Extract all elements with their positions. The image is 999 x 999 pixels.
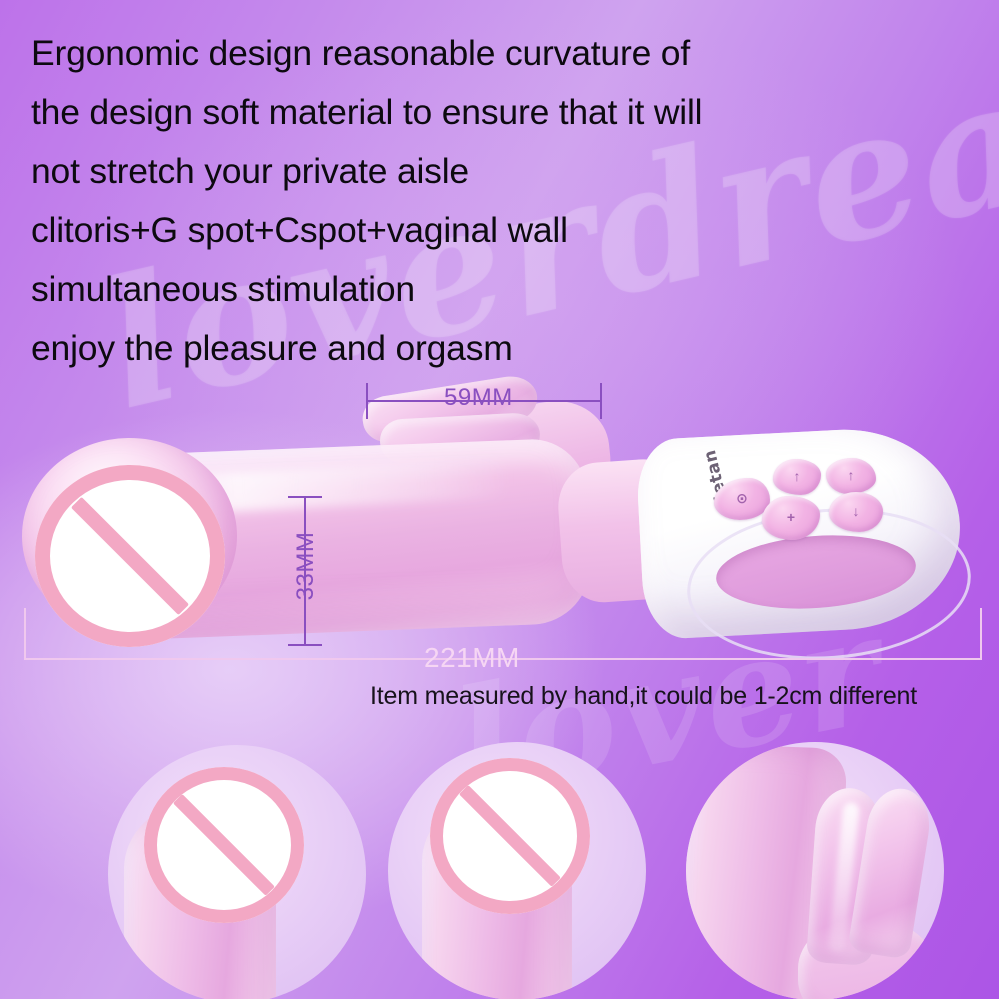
dimension-width: 59MM bbox=[358, 380, 610, 422]
dimension-length: 221MM bbox=[22, 590, 984, 672]
plus-icon: + bbox=[787, 510, 795, 524]
copy-line-2: the design soft material to ensure that … bbox=[31, 83, 911, 142]
copy-line-1: Ergonomic design reasonable curvature of bbox=[31, 24, 911, 83]
dimension-tick-end bbox=[980, 608, 982, 660]
copy-line-5: simultaneous stimulation bbox=[31, 260, 911, 319]
dimension-tick-top bbox=[288, 496, 322, 498]
intensity-up-button[interactable]: ↑ bbox=[826, 458, 876, 494]
marketing-copy-block: Ergonomic design reasonable curvature of… bbox=[31, 24, 911, 378]
detail-inset-2 bbox=[388, 742, 646, 999]
dimension-length-label: 221MM bbox=[412, 642, 532, 674]
intensity-down-button[interactable]: ↓ bbox=[829, 492, 883, 532]
product-feature-image: loverdream lover Ergonomic design reason… bbox=[0, 0, 999, 999]
prohibited-icon-inset-2 bbox=[430, 758, 590, 914]
copy-line-3: not stretch your private aisle bbox=[31, 142, 911, 201]
dimension-tick-left bbox=[366, 383, 368, 419]
copy-line-4: clitoris+G spot+Cspot+vaginal wall bbox=[31, 201, 911, 260]
arrow-down-icon: ↓ bbox=[853, 504, 860, 518]
dimension-tick-start bbox=[24, 608, 26, 660]
power-icon: ⊙ bbox=[736, 491, 748, 505]
arrow-up-icon-2: ↑ bbox=[848, 468, 855, 482]
measurement-disclaimer: Item measured by hand,it could be 1-2cm … bbox=[370, 682, 917, 711]
detail-inset-1 bbox=[108, 745, 366, 999]
prohibited-icon-inset-1 bbox=[144, 767, 304, 923]
detail-inset-3 bbox=[686, 742, 944, 999]
dimension-width-label: 59MM bbox=[436, 384, 521, 412]
arrow-up-icon: ↑ bbox=[794, 469, 801, 483]
dimension-tick-right bbox=[600, 383, 602, 419]
mode-up-button[interactable]: ↑ bbox=[773, 459, 821, 495]
